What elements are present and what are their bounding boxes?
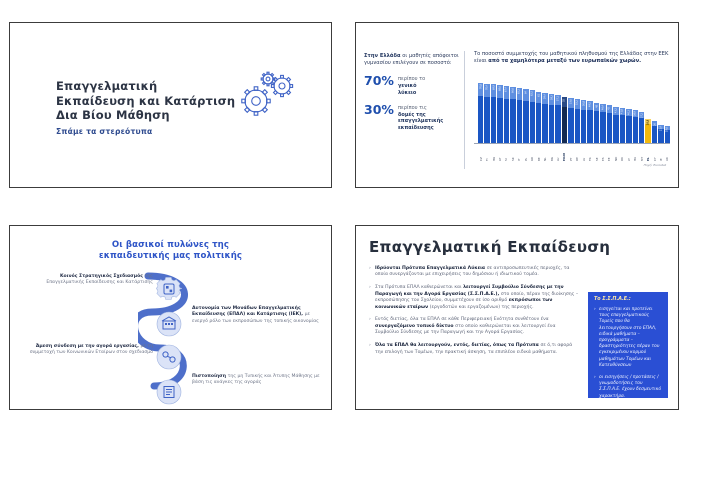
chart-bar-value: 50,8 [582,101,585,106]
chart-x-tick: DE [575,145,580,161]
bullet-text: Όλα τα ΕΠΑΛ θα λειτουργούν, εντός, διετί… [375,343,579,356]
chart-bar-value: 66,6 [511,88,514,93]
chart-bar: 53,6 [568,98,573,143]
chart-x-tick-label: DK [620,145,624,161]
slide3-title: Οι βασικοί πυλώνες της εκπαιδευτικής μας… [10,240,331,262]
chart-source-note: Πηγή: Eurostat [474,163,670,167]
slide4-bullet: ›Στα Πρότυπα ΕΠΑΛ καθιερώνεται και λειτο… [369,285,579,311]
chart-x-tick-label: HR [492,145,496,161]
chart-bar: 64 [523,89,528,143]
bullet-text: Ιδρύονται Πρότυπα Επαγγελματικά Λύκεια σ… [375,266,579,279]
chart-bar: 45 [607,105,612,143]
pillar-3-bold: Άμεση σύνδεση με την αγορά εργασίας, [36,344,141,349]
chart-bar-value: 61 [537,94,540,97]
chart-x-tick-label: EL [646,145,650,161]
chart-title-bold: από τα χαμηλότερα μεταξύ των ευρωπαϊκών … [488,58,641,64]
slide1-title: Επαγγελματική Εκπαίδευση και Κατάρτιση Δ… [56,79,235,123]
chart-x-tick: RO [530,145,535,161]
chart-x-tick-label: FI [485,145,489,161]
bullet-text-plain: Στα Πρότυπα ΕΠΑΛ καθιερώνεται και [375,285,463,290]
chart-x-tick-label: HU [633,145,637,161]
chart-bar: 62,5 [530,90,535,143]
bullet-text-plain: Εντός διετίας, όλα τα ΕΠΑΛ σε κάθε Περιφ… [375,317,549,322]
stat-intro-70: περίπου το [398,76,425,82]
chart-bar: 49,5 [587,101,592,143]
chart-bars: 70,870,469,968,667,466,665,26462,56159,4… [474,80,670,144]
slide4-bullet: ›Όλα τα ΕΠΑΛ θα λειτουργούν, εντός, διετ… [369,343,579,356]
slide-2-participation-chart[interactable]: Στην Ελλάδα οι μαθητές απόφοιτοι γυμνασί… [355,22,679,188]
chart-bar-value: 69,9 [492,85,495,90]
chart-x-tick-label: NO [614,145,618,161]
chart-bar: 46,4 [600,104,605,143]
chart-x-tick: NO [613,145,618,161]
chart-x-tick: SK [510,145,515,161]
chart-bar: 48 [594,103,599,143]
chart-bar: 19,6 [665,126,670,142]
chart-bar: 61 [536,92,541,143]
chart-bar: 65,2 [517,88,522,143]
chart-x-tick-label: LU [556,145,560,161]
bullet-text: Στα Πρότυπα ΕΠΑΛ καθιερώνεται και λειτου… [375,285,579,311]
stat-percent-30: 30% [364,104,398,116]
chart-bar: 52,2 [575,99,580,143]
chart-bar-value: 52,2 [576,100,579,105]
chart-bar: 50,8 [581,100,586,143]
chart-bar: 58,3 [549,94,554,143]
slide4-bullet: ›Εντός διετίας, όλα τα ΕΠΑΛ σε κάθε Περι… [369,317,579,336]
chart-bar-value: 58,3 [550,95,553,100]
chart-bar: 70,8 [478,83,483,142]
chart-x-tick: HR [491,145,496,161]
callout-title: Το Σ.Σ.Π.Α.Ε.: [594,297,662,302]
chart-x-tick: CY [652,145,657,161]
chart-bar-value: 68,6 [499,86,502,91]
chart-bar: 68,6 [497,85,502,143]
slide4-bullet: ›Ιδρύονται Πρότυπα Επαγγελματικά Λύκεια … [369,266,579,279]
gear-plan-icon [156,276,184,304]
chart-bar-value: 28,8 [647,119,650,124]
chart-bar-value: 53,6 [569,99,572,104]
chart-bar: 57,1 [555,95,560,143]
chart-bar-value: 21,4 [659,126,662,131]
chart-x-tick: HU [633,145,638,161]
chart-x-tick: PL [523,145,528,161]
chart-x-axis: CZFIHRATSISKITPLROBENLBGLUEU28PTDELVFRSE… [474,145,670,161]
chart-x-tick-label: RO [530,145,534,161]
pillar-2-text: Αυτονομία των Μονάδων Επαγγελματικής Εκπ… [192,306,322,325]
chart-x-tick-label: AT [498,145,502,161]
callout-item-text: εισηγείται και προτείνει τους επαγγελματ… [599,307,662,369]
chart-x-tick-label: DE [575,145,579,161]
chart-bar: 66,6 [510,87,515,143]
pillar-1-text: Κοινός Στρατηγικός Σχεδιασμός της Επαγγε… [28,274,153,287]
callout-item: ›οι εισηγήσεις / προτάσεις / γνωμοδοτήσε… [594,375,662,400]
chart-x-tick: DK [620,145,625,161]
chart-x-tick: AT [497,145,502,161]
chart-x-tick: BE [536,145,541,161]
callout-item-text: οι εισηγήσεις / προτάσεις / γνωμοδοτήσει… [599,375,662,400]
stat-row-70: 70% περίπου το γενικό λύκειο [364,75,459,96]
chart-x-tick-label: EE [607,145,611,161]
chart-x-tick: EE [607,145,612,161]
chart-x-tick: IE [658,145,663,161]
chart-bar-value: 40,3 [627,110,630,115]
chart-bar-value: 49,5 [589,102,592,107]
slide4-title: Επαγγελματική Εκπαίδευση [369,238,610,256]
chart-x-tick-label: CY [653,145,657,161]
chart-bar-value: 19,6 [666,127,669,132]
chart-bar-value: 43,2 [614,108,617,113]
chart-bar-value: 41,8 [621,109,624,114]
slide2-divider [464,51,465,169]
chart-x-tick-label: CZ [479,145,483,161]
chart-bar-value: 26 [653,123,656,126]
stat-text-70: περίπου το γενικό λύκειο [398,75,425,96]
stat-percent-70: 70% [364,75,398,87]
chart-x-tick: UK [665,145,670,161]
bullet-text-bold: Όλα τα ΕΠΑΛ θα λειτουργούν, εντός, διετί… [375,343,540,348]
chart-x-tick-label: EU28 [562,145,566,161]
chart-bar-value: 59,4 [544,94,547,99]
pillar-4-bold: Πιστοποίηση [192,374,228,379]
chart-bar: 59,4 [542,93,547,143]
chart-bar: 40,3 [626,109,631,143]
chart-x-tick-label: PT [569,145,573,161]
chart-x-tick-label: FR [588,145,592,161]
chart-x-tick-label: ES [601,145,605,161]
chart-bar: 69,9 [491,84,496,143]
chart-bar: 55 [562,97,567,143]
chart-bar: 67,4 [504,86,509,143]
stat-text-30: περίπου τις δομές της επαγγελματικής εκπ… [398,104,443,131]
bullet-text-bold: Ιδρύονται Πρότυπα Επαγγελματικά Λύκεια [375,266,487,271]
chart-x-tick: NL [542,145,547,161]
pillar-1-bold: Κοινός Στρατηγικός Σχεδιασμός [60,274,145,279]
chart-x-tick: CZ [478,145,483,161]
chart-x-tick-label: NL [543,145,547,161]
gear-certificate-icon [156,379,184,407]
slide4-bullet-list: ›Ιδρύονται Πρότυπα Επαγγελματικά Λύκεια … [369,266,579,362]
bullet-text-plain: (εργοδοτών και εργαζομένων) της περιοχής… [430,305,534,310]
chart-x-tick: MT [639,145,644,161]
chart-title: Το ποσοστό συμμετοχής του μαθητικού πληθ… [474,51,670,66]
gear-market-icon [156,344,184,372]
chart-bar-value: 62,5 [531,91,534,96]
chart-x-tick: IT [517,145,522,161]
chart-x-tick-label: IT [517,145,521,161]
chart-x-tick-label: SE [595,145,599,161]
chart-x-tick-label: LV [582,145,586,161]
pillar-2-bold: Αυτονομία των Μονάδων Επαγγελματικής Εκπ… [192,306,305,317]
stat-intro-30: περίπου τις [398,105,427,111]
callout-item: ›εισηγείται και προτείνει τους επαγγελμα… [594,307,662,369]
chart-x-tick-label: PL [524,145,528,161]
chart-bar: 43,2 [613,107,618,143]
slide-3-policy-pillars[interactable]: Οι βασικοί πυλώνες της εκπαιδευτικής μας… [9,225,332,410]
slide-4-vocational-education[interactable]: Επαγγελματική Εκπαίδευση ›Ιδρύονται Πρότ… [355,225,679,410]
chart-bar: 37,2 [639,112,644,143]
chart-bar-value: 38,9 [634,111,637,116]
slide-1-title[interactable]: Επαγγελματική Εκπαίδευση και Κατάρτιση Δ… [9,22,332,188]
chart-x-tick: FI [484,145,489,161]
slide2-chart: Το ποσοστό συμμετοχής του μαθητικού πληθ… [474,51,670,167]
chart-x-tick-label: BG [550,145,554,161]
chart-bar-value: 37,2 [640,113,643,118]
chart-x-tick: SE [594,145,599,161]
chart-x-tick: LT [626,145,631,161]
chart-bar-value: 55 [563,99,566,102]
gears-icon [238,71,300,127]
chart-bar: 26 [652,121,657,143]
chart-x-tick: LV [581,145,586,161]
chart-bar-value: 57,1 [556,96,559,101]
chart-bar: 38,9 [633,110,638,143]
chart-x-tick: EL [645,145,650,161]
chart-bar: 21,4 [658,125,663,143]
slide-deck-overview: Επαγγελματική Εκπαίδευση και Κατάρτιση Δ… [0,0,701,487]
chart-x-tick-label: IE [659,145,663,161]
sspae-callout-box: Το Σ.Σ.Π.Α.Ε.: ›εισηγείται και προτείνει… [588,292,668,398]
callout-items: ›εισηγείται και προτείνει τους επαγγελμα… [594,307,662,400]
chart-x-tick: ES [600,145,605,161]
stat-emphasis-30: δομές της επαγγελματικής εκπαίδευσης [398,112,443,132]
chart-x-tick-label: LT [627,145,631,161]
chart-x-tick-label: BE [537,145,541,161]
slide2-lead-text: Στην Ελλάδα οι μαθητές απόφοιτοι γυμνασί… [364,53,459,67]
bullet-text-bold: συνεργαζόμενο τοπικό δίκτυο [375,324,455,329]
slide2-stats-panel: Στην Ελλάδα οι μαθητές απόφοιτοι γυμνασί… [364,53,459,132]
chart-bar: 41,8 [620,108,625,143]
chart-bar-value: 48 [595,105,598,108]
chart-x-tick: PT [568,145,573,161]
chart-bar: 70,4 [484,84,489,143]
pillar-4-text: Πιστοποίηση της μη Τυπικής και Άτυπης Μά… [192,374,322,387]
bullet-text: Εντός διετίας, όλα τα ΕΠΑΛ σε κάθε Περιφ… [375,317,579,336]
chart-bar: 28,8 [645,119,650,143]
chart-bar-value: 64 [524,91,527,94]
gear-building-icon [156,311,184,339]
chart-x-tick: SI [504,145,509,161]
pillar-3-text: Άμεση σύνδεση με την αγορά εργασίας, με … [28,344,153,357]
stat-row-30: 30% περίπου τις δομές της επαγγελματικής… [364,104,459,131]
chart-x-tick-label: SK [511,145,515,161]
slide1-subtitle: Σπάμε τα στερεότυπα [56,127,152,136]
stat-emphasis-70: γενικό λύκειο [398,83,425,96]
slide2-lead-bold: Στην Ελλάδα [364,53,401,59]
chart-x-tick: EU28 [562,145,567,161]
chart-bar-value: 65,2 [518,89,521,94]
chart-bar-value: 70,8 [479,84,482,89]
chart-bar-value: 70,4 [486,85,489,90]
chart-x-tick: FR [587,145,592,161]
chart-x-tick-label: UK [665,145,669,161]
chart-x-tick: LU [555,145,560,161]
chart-x-tick-label: SI [504,145,508,161]
chart-x-tick-label: MT [640,145,644,161]
chart-x-tick: BG [549,145,554,161]
chart-bar-value: 46,4 [602,105,605,110]
